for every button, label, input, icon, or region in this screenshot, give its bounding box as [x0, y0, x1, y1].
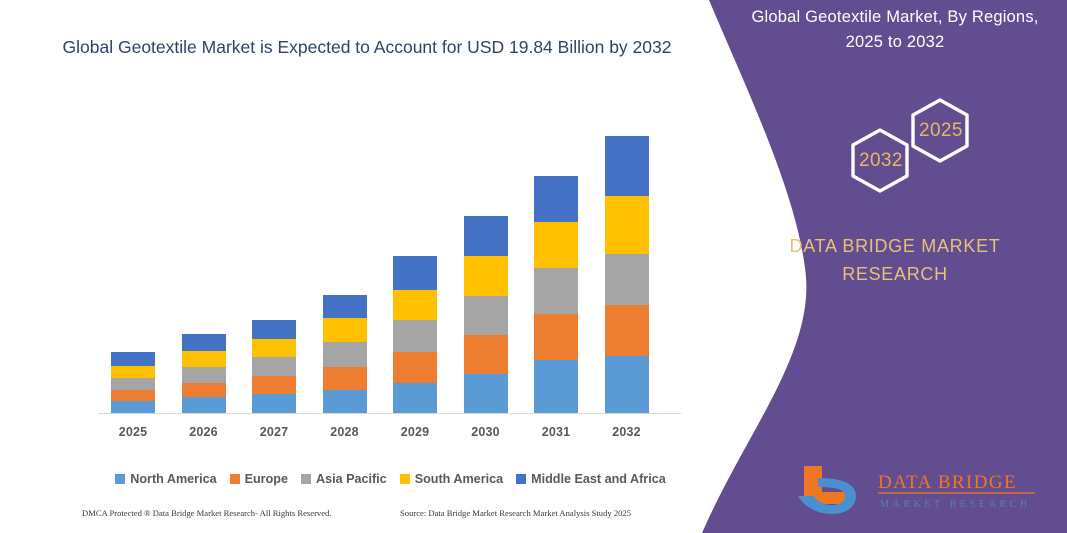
x-axis-label-2028: 2028	[310, 425, 380, 439]
bar-segment-south-america	[464, 256, 508, 296]
x-axis-label-2026: 2026	[169, 425, 239, 439]
legend-item-north-america[interactable]: North America	[115, 472, 216, 486]
company-logo: DATA BRIDGE MARKET RESEARCH	[792, 462, 1052, 518]
bar-segment-europe	[464, 335, 508, 374]
bar-segment-north-america	[534, 360, 578, 413]
bar-segment-middle-east-and-africa	[111, 352, 155, 366]
x-axis-label-2029: 2029	[380, 425, 450, 439]
legend-label: North America	[130, 472, 216, 486]
bar-segment-asia-pacific	[111, 378, 155, 390]
legend-item-europe[interactable]: Europe	[230, 472, 288, 486]
panel-title: Global Geotextile Market, By Regions, 20…	[735, 5, 1055, 55]
legend-swatch-icon	[400, 474, 410, 484]
bar-segment-north-america	[464, 374, 508, 413]
bar-segment-south-america	[534, 222, 578, 268]
bar-segment-middle-east-and-africa	[393, 256, 437, 290]
bar-segment-europe	[182, 383, 226, 397]
footer-copyright: DMCA Protected ® Data Bridge Market Rese…	[82, 508, 332, 518]
legend-swatch-icon	[230, 474, 240, 484]
infographic-canvas: Global Geotextile Market is Expected to …	[0, 0, 1067, 533]
brand-line-1: DATA BRIDGE MARKET	[735, 232, 1055, 260]
brand-line-2: RESEARCH	[735, 260, 1055, 288]
bar-segment-europe	[393, 352, 437, 383]
bar-segment-middle-east-and-africa	[534, 176, 578, 222]
legend-label: Asia Pacific	[316, 472, 387, 486]
bar-segment-south-america	[605, 196, 649, 254]
bar-segment-asia-pacific	[534, 268, 578, 314]
bar-segment-middle-east-and-africa	[182, 334, 226, 351]
bar-segment-europe	[323, 367, 367, 390]
bar-2032	[605, 136, 649, 413]
bar-segment-asia-pacific	[464, 296, 508, 335]
legend-item-middle-east-and-africa[interactable]: Middle East and Africa	[516, 472, 666, 486]
bar-segment-asia-pacific	[605, 254, 649, 305]
bar-segment-middle-east-and-africa	[252, 320, 296, 339]
footer-source: Source: Data Bridge Market Research Mark…	[400, 508, 631, 518]
bar-segment-europe	[605, 305, 649, 356]
legend-label: Europe	[245, 472, 288, 486]
hexagon-shapes	[735, 88, 1055, 203]
bar-segment-middle-east-and-africa	[605, 136, 649, 196]
footer: DMCA Protected ® Data Bridge Market Rese…	[0, 508, 700, 528]
bar-segment-europe	[111, 390, 155, 401]
x-axis-label-2027: 2027	[239, 425, 309, 439]
logo-primary-text: DATA BRIDGE	[878, 472, 1017, 493]
x-axis-label-2030: 2030	[451, 425, 521, 439]
bar-2025	[111, 352, 155, 413]
bar-segment-north-america	[393, 383, 437, 413]
brand-name: DATA BRIDGE MARKET RESEARCH	[735, 232, 1055, 288]
bar-segment-north-america	[252, 394, 296, 413]
x-axis-label-2025: 2025	[98, 425, 168, 439]
bar-segment-europe	[534, 314, 578, 360]
bar-chart-plot: 20252026202720282029203020312032	[0, 0, 720, 533]
legend-label: South America	[415, 472, 503, 486]
bar-2031	[534, 176, 578, 413]
bar-segment-north-america	[605, 356, 649, 413]
bar-segment-asia-pacific	[393, 320, 437, 352]
bar-2027	[252, 320, 296, 413]
logo-mark: DATA BRIDGE MARKET RESEARCH	[792, 462, 1052, 518]
bar-segment-middle-east-and-africa	[464, 216, 508, 256]
bar-segment-north-america	[182, 397, 226, 413]
bar-segment-south-america	[323, 318, 367, 342]
bar-2026	[182, 334, 226, 413]
bar-segment-middle-east-and-africa	[323, 295, 367, 318]
legend-item-south-america[interactable]: South America	[400, 472, 503, 486]
bar-segment-south-america	[393, 290, 437, 320]
bar-2029	[393, 256, 437, 413]
bar-2030	[464, 216, 508, 413]
chart-legend: North AmericaEuropeAsia PacificSouth Ame…	[98, 472, 683, 486]
legend-label: Middle East and Africa	[531, 472, 666, 486]
bar-segment-europe	[252, 376, 296, 394]
legend-swatch-icon	[516, 474, 526, 484]
legend-swatch-icon	[301, 474, 311, 484]
bar-segment-south-america	[111, 366, 155, 378]
hexagon-2025-label: 2025	[919, 120, 963, 142]
legend-swatch-icon	[115, 474, 125, 484]
bar-segment-north-america	[323, 390, 367, 413]
logo-secondary-text: MARKET RESEARCH	[880, 499, 1031, 510]
legend-item-asia-pacific[interactable]: Asia Pacific	[301, 472, 387, 486]
bar-segment-north-america	[111, 401, 155, 413]
bar-segment-asia-pacific	[323, 342, 367, 367]
hexagon-2032-label: 2032	[859, 150, 903, 172]
x-axis-line	[98, 413, 681, 414]
bar-segment-south-america	[252, 339, 296, 357]
bar-segment-south-america	[182, 351, 226, 367]
x-axis-label-2031: 2031	[521, 425, 591, 439]
bar-segment-asia-pacific	[252, 357, 296, 376]
bar-2028	[323, 295, 367, 413]
bar-segment-asia-pacific	[182, 367, 226, 383]
hexagon-group: 2032 2025	[735, 88, 1055, 203]
x-axis-label-2032: 2032	[592, 425, 662, 439]
purple-side-panel: Global Geotextile Market, By Regions, 20…	[687, 0, 1067, 533]
